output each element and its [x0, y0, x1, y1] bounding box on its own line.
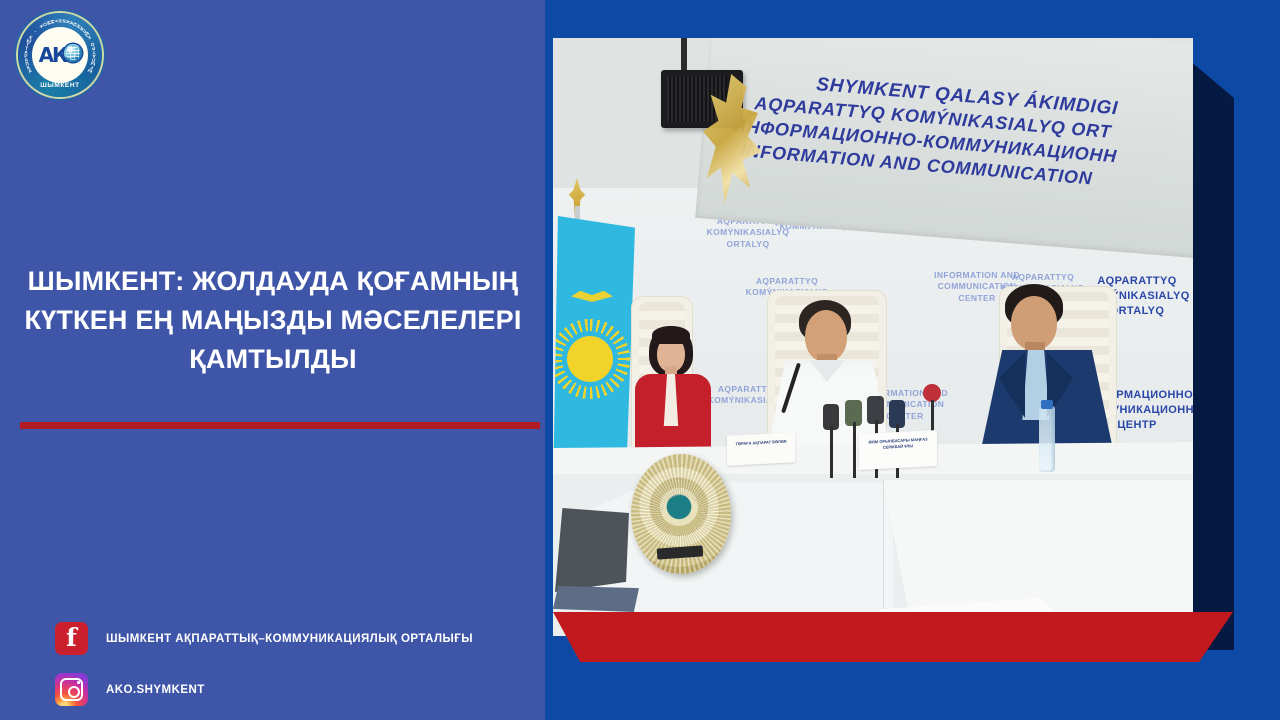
page-title-line-3: ҚАМТЫЛДЫ: [14, 340, 532, 379]
instagram-camera-glyph: [60, 678, 83, 701]
name-placard-center: ТӨРАҒА АҚПАРАТ БӨЛІМІ: [727, 432, 795, 466]
social-link-instagram[interactable]: AKO.SHYMKENT: [55, 673, 525, 706]
logo-ring-char: Ы: [87, 68, 93, 75]
name-placard-right: ӘКІМ ОРЫНБАСАРЫ МАҢҒАЗ СЕРІКБАЙ ҰЛЫ: [859, 430, 937, 470]
red-divider: [20, 422, 540, 429]
left-info-panel: АҚПАРАТТЫҚ - КОММУНИКАЦИЯЛЫҚ ОРТАЛЫҒЫ АК…: [0, 0, 545, 720]
person-left-fringe: [652, 326, 690, 344]
microphone-stem: [830, 426, 833, 478]
name-placard-center-text: ТӨРАҒА АҚПАРАТ БӨЛІМІ: [733, 439, 789, 448]
page-title-line-1: ШЫМКЕНТ: ЖОЛДАУДА ҚОҒАМНЫҢ: [14, 262, 532, 301]
ako-shymkent-logo: АҚПАРАТТЫҚ - КОММУНИКАЦИЯЛЫҚ ОРТАЛЫҒЫ АК…: [18, 13, 102, 97]
kazakhstan-state-emblem: [631, 454, 731, 574]
page-title-line-2: КҮТКЕН ЕҢ МАҢЫЗДЫ МӘСЕЛЕЛЕРІ: [14, 301, 532, 340]
page-title: ШЫМКЕНТ: ЖОЛДАУДА ҚОҒАМНЫҢ КҮТКЕН ЕҢ МАҢ…: [14, 262, 532, 379]
globe-icon: [64, 44, 82, 62]
logo-bottom-text: ШЫМКЕНТ: [18, 82, 102, 89]
logo-ring-char: Қ: [28, 35, 33, 41]
press-conference-photo: AQPARATTYQ KOMÝNIKASIALYQ ORTALYQ ИНФОРМ…: [553, 38, 1193, 636]
photo-drop-shadow: [1189, 60, 1234, 650]
microphone-stem: [853, 422, 856, 478]
logo-ring-char: -: [33, 29, 38, 34]
red-accent-banner: [553, 612, 1233, 662]
flag-eagle: [571, 288, 613, 302]
name-placard-right-text: ӘКІМ ОРЫНБАСАРЫ МАҢҒАЗ СЕРІКБАЙ ҰЛЫ: [865, 436, 931, 451]
laptop-base: [553, 586, 639, 612]
instagram-icon[interactable]: [55, 673, 88, 706]
flag-sun: [567, 336, 613, 382]
laptop: [555, 508, 629, 592]
facebook-label: ШЫМКЕНТ АҚПАРАТТЫҚ–КОММУНИКАЦИЯЛЫҚ ОРТАЛ…: [106, 633, 473, 645]
water-bottle-cap: [1041, 400, 1053, 409]
social-links: f ШЫМКЕНТ АҚПАРАТТЫҚ–КОММУНИКАЦИЯЛЫҚ ОРТ…: [55, 622, 525, 720]
logo-inner-disc: АКО: [32, 27, 88, 83]
instagram-label: AKO.SHYMKENT: [106, 684, 205, 696]
speaker-mount-arm: [681, 38, 687, 72]
facebook-glyph: f: [66, 625, 77, 650]
water-bottle: [1039, 406, 1055, 472]
logo-ring-char: Қ: [87, 35, 92, 41]
facebook-icon[interactable]: f: [55, 622, 88, 655]
poster-canvas: АҚПАРАТТЫҚ - КОММУНИКАЦИЯЛЫҚ ОРТАЛЫҒЫ АК…: [0, 0, 1280, 720]
wall-banner-text: SHYMKENT QALASY ÁKIMDIGI AQPARATTYQ KOMÝ…: [730, 66, 1193, 200]
social-link-facebook[interactable]: f ШЫМКЕНТ АҚПАРАТТЫҚ–КОММУНИКАЦИЯЛЫҚ ОРТ…: [55, 622, 525, 655]
